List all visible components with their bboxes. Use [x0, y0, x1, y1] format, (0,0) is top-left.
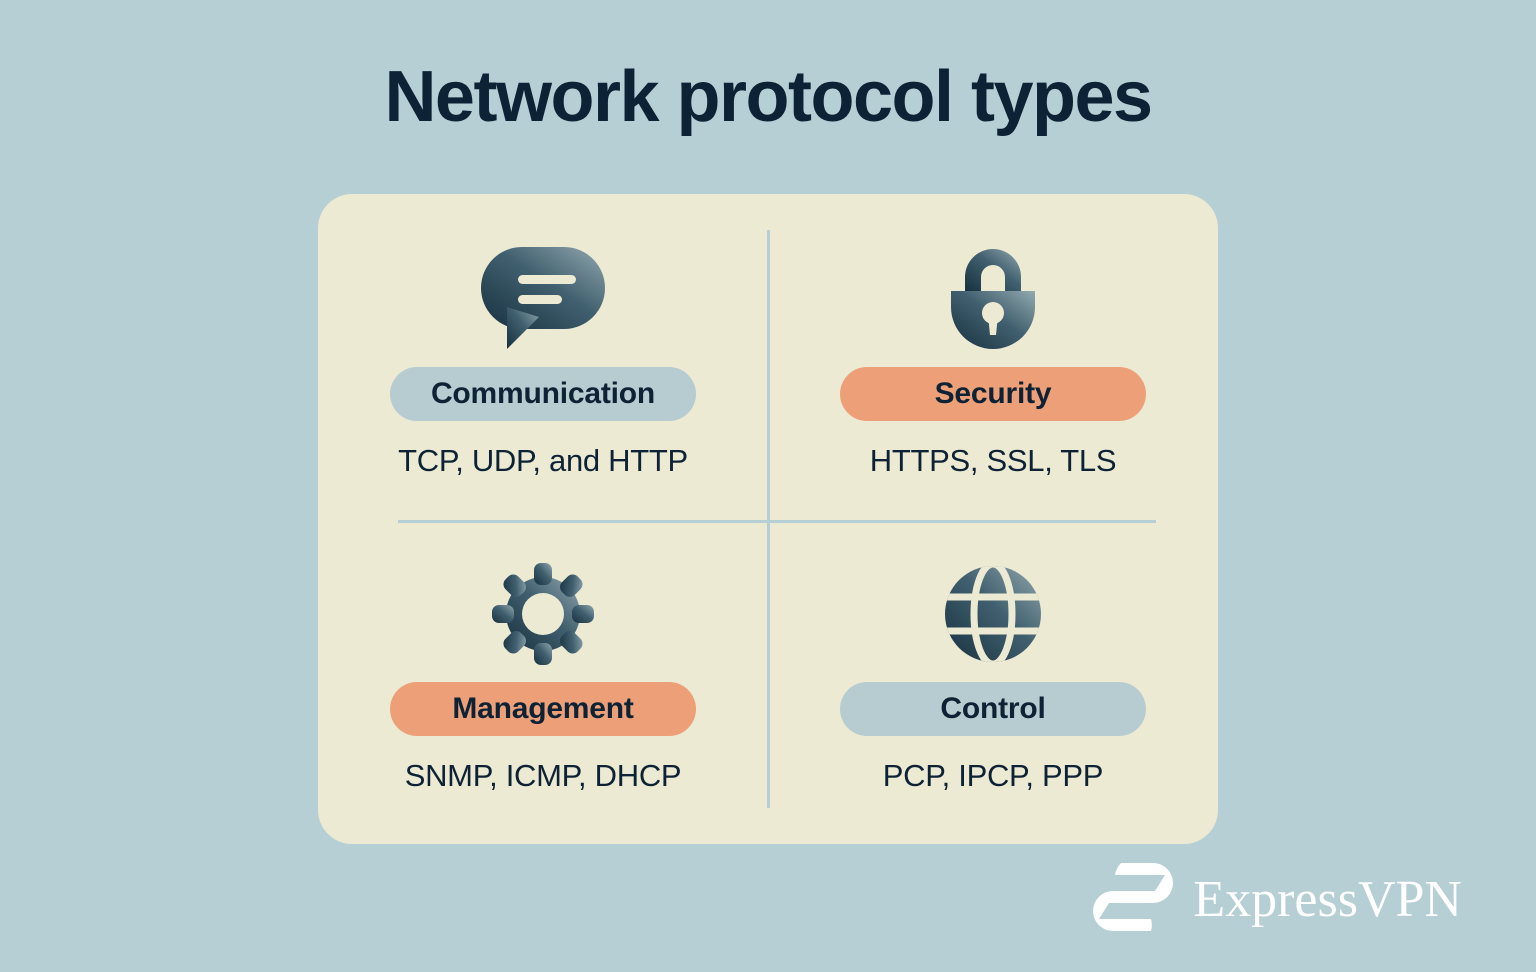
quadrant-security: Security HTTPS, SSL, TLS	[768, 194, 1218, 519]
protocol-list-security: HTTPS, SSL, TLS	[870, 443, 1116, 479]
lock-icon	[943, 247, 1043, 351]
expressvpn-wordmark: ExpressVPN	[1193, 874, 1462, 926]
expressvpn-logo: ExpressVPN	[1091, 861, 1462, 938]
quadrant-grid: Communication TCP, UDP, and HTTP	[318, 194, 1218, 844]
category-badge-control[interactable]: Control	[840, 682, 1146, 736]
quadrant-management: Management SNMP, ICMP, DHCP	[318, 519, 768, 844]
protocol-list-management: SNMP, ICMP, DHCP	[405, 758, 682, 794]
expressvpn-e-mark-icon	[1091, 861, 1177, 938]
page-title: Network protocol types	[0, 56, 1536, 139]
category-badge-communication[interactable]: Communication	[390, 367, 696, 421]
gear-icon	[491, 562, 595, 666]
chat-bubble-icon	[481, 247, 605, 351]
category-badge-security[interactable]: Security	[840, 367, 1146, 421]
protocol-list-communication: TCP, UDP, and HTTP	[398, 443, 688, 479]
quadrant-control: Control PCP, IPCP, PPP	[768, 519, 1218, 844]
protocol-list-control: PCP, IPCP, PPP	[883, 758, 1103, 794]
category-badge-management[interactable]: Management	[390, 682, 696, 736]
protocol-types-card: Communication TCP, UDP, and HTTP	[318, 194, 1218, 844]
quadrant-communication: Communication TCP, UDP, and HTTP	[318, 194, 768, 519]
globe-icon	[943, 562, 1043, 666]
